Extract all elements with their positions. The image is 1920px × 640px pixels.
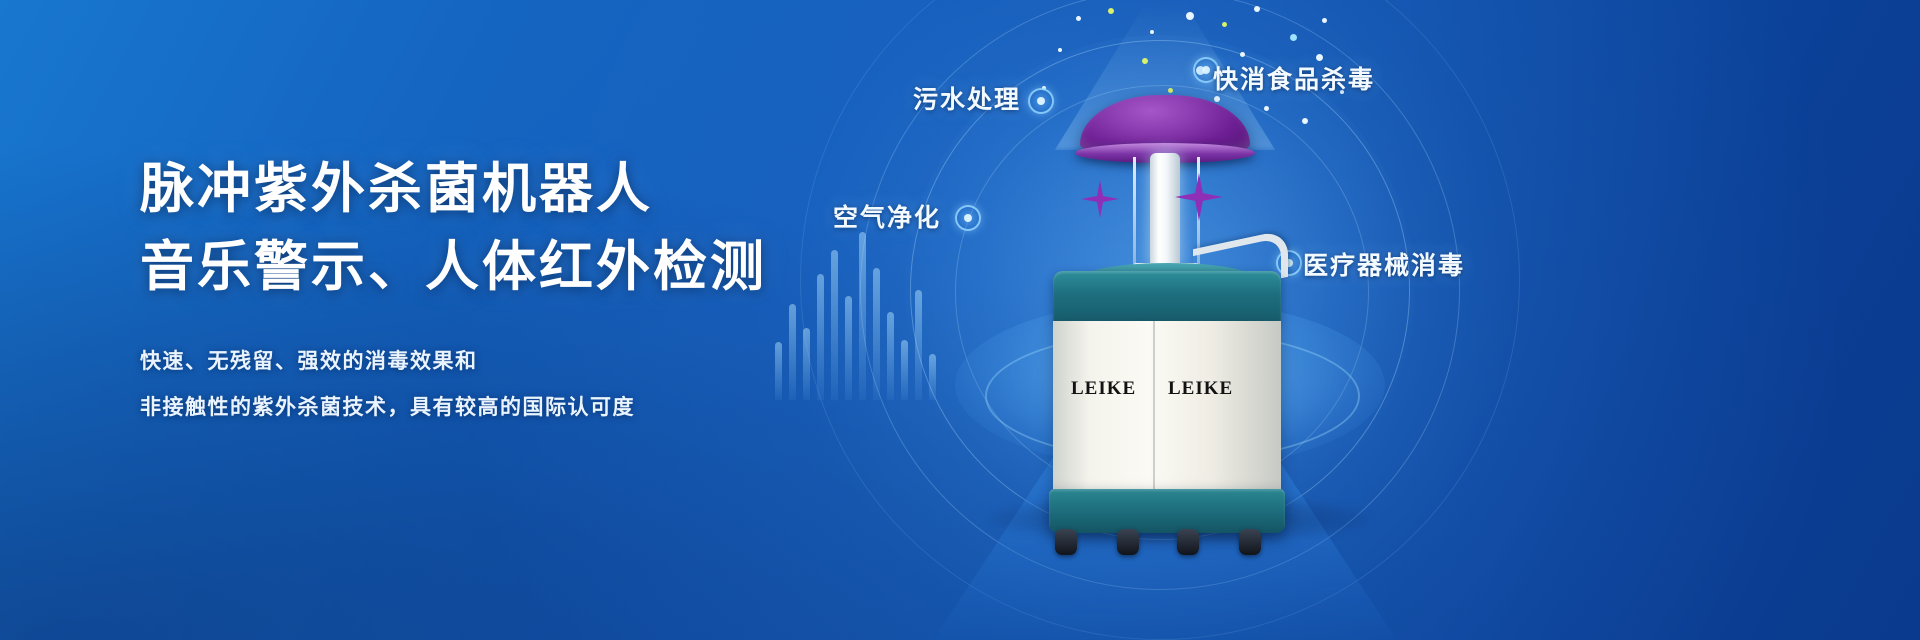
caster-wheel [1239, 529, 1261, 555]
subtitle-line-1: 快速、无残留、强效的消毒效果和 [140, 338, 860, 384]
sparkle-dot [1322, 18, 1327, 23]
uv-disinfection-robot: LEIKE LEIKE [1025, 95, 1305, 515]
feature-label-wastewater: 污水处理 [913, 80, 1021, 116]
ring-node-marker [955, 205, 981, 231]
sparkle-dot [1168, 88, 1173, 93]
headline-line-1: 脉冲紫外杀菌机器人 [140, 150, 860, 228]
sparkle-dot [1076, 16, 1081, 21]
sparkle-dot [1254, 6, 1260, 12]
uv-lamp-tube [1150, 153, 1180, 268]
headline-copy-block: 脉冲紫外杀菌机器人 音乐警示、人体红外检测 快速、无残留、强效的消毒效果和 非接… [140, 150, 860, 430]
cabinet-bottom [1049, 489, 1285, 533]
brand-label-right: LEIKE [1168, 378, 1233, 400]
sparkle-star-icon [1081, 180, 1119, 218]
sparkle-dot [1150, 30, 1154, 34]
headline-line-2: 音乐警示、人体红外检测 [140, 228, 860, 306]
sparkle-dot [1290, 34, 1297, 41]
sparkle-dot [1222, 22, 1227, 27]
promo-banner: LEIKE LEIKE 污水处理 空气净化 快消食品杀毒 医疗器械消毒 脉冲紫外… [0, 0, 1920, 640]
lamp-support-rod-left [1133, 157, 1136, 267]
feature-label-medical-device: 医疗器械消毒 [1303, 246, 1465, 282]
brand-label-left: LEIKE [1071, 378, 1136, 400]
cabinet-top [1053, 271, 1281, 323]
subtitle-line-2: 非接触性的紫外杀菌技术，具有较高的国际认可度 [140, 384, 860, 430]
sparkle-star-icon [1175, 173, 1223, 221]
sparkle-dot [1142, 58, 1148, 64]
caster-wheel [1055, 529, 1077, 555]
caster-wheel [1117, 529, 1139, 555]
sparkle-dot [1108, 8, 1114, 14]
sparkle-dot [1186, 12, 1194, 20]
sparkle-dot [1058, 48, 1062, 52]
sparkle-dot [1240, 52, 1245, 57]
caster-wheel [1177, 529, 1199, 555]
subtitle-block: 快速、无残留、强效的消毒效果和 非接触性的紫外杀菌技术，具有较高的国际认可度 [140, 338, 860, 430]
feature-label-food-disinfection: 快消食品杀毒 [1213, 60, 1375, 96]
body-panel-seam [1153, 321, 1155, 491]
body-panel [1053, 321, 1281, 491]
